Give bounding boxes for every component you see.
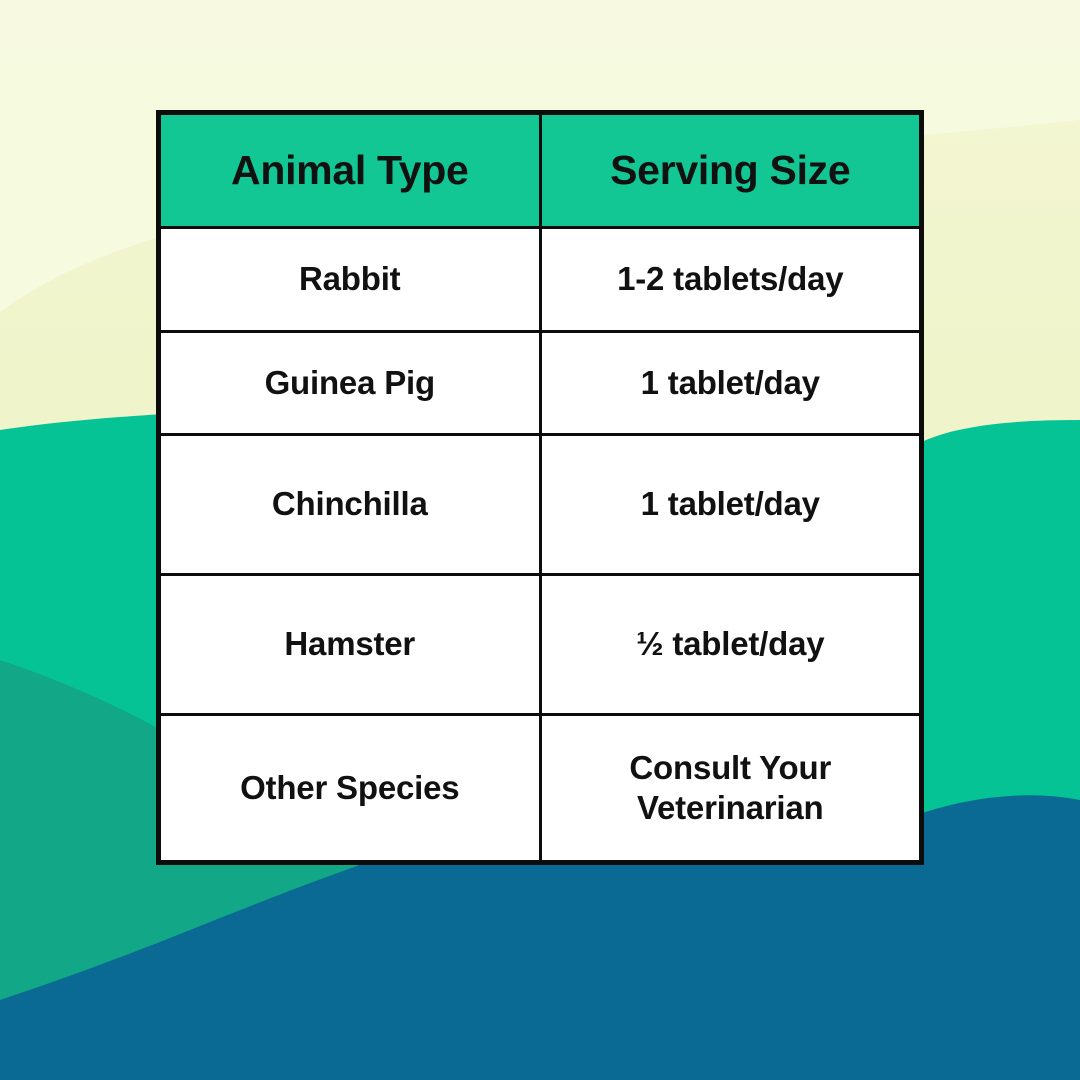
- table-row: Hamster ½ tablet/day: [159, 575, 922, 715]
- table-row: Guinea Pig 1 tablet/day: [159, 332, 922, 435]
- header-label-animal-type: Animal Type: [171, 147, 529, 194]
- cell-animal-type: Guinea Pig: [159, 332, 541, 435]
- poster-canvas: Animal Type Serving Size Rabbit 1-2 tabl…: [0, 0, 1080, 1080]
- table-row: Other Species Consult Your Veterinarian: [159, 715, 922, 863]
- cell-serving-size: 1 tablet/day: [540, 332, 922, 435]
- serving-value: 1 tablet/day: [552, 484, 910, 524]
- cell-animal-type: Rabbit: [159, 228, 541, 332]
- cell-serving-size: 1-2 tablets/day: [540, 228, 922, 332]
- serving-value: 1-2 tablets/day: [552, 259, 910, 299]
- header-label-serving-size: Serving Size: [552, 147, 910, 194]
- column-header-serving-size: Serving Size: [540, 113, 922, 228]
- serving-size-table: Animal Type Serving Size Rabbit 1-2 tabl…: [156, 110, 924, 865]
- animal-name: Chinchilla: [171, 484, 529, 524]
- animal-name: Other Species: [171, 768, 529, 808]
- serving-value: Consult Your Veterinarian: [552, 748, 910, 829]
- animal-name: Guinea Pig: [171, 363, 529, 403]
- cell-serving-size: ½ tablet/day: [540, 575, 922, 715]
- serving-value: ½ tablet/day: [552, 624, 910, 664]
- cell-serving-size: Consult Your Veterinarian: [540, 715, 922, 863]
- cell-animal-type: Chinchilla: [159, 435, 541, 575]
- table-row: Rabbit 1-2 tablets/day: [159, 228, 922, 332]
- table-body: Rabbit 1-2 tablets/day Guinea Pig 1 tabl…: [159, 228, 922, 863]
- table-header-row: Animal Type Serving Size: [159, 113, 922, 228]
- table-container: Animal Type Serving Size Rabbit 1-2 tabl…: [156, 110, 924, 792]
- animal-name: Hamster: [171, 624, 529, 664]
- cell-animal-type: Other Species: [159, 715, 541, 863]
- cell-animal-type: Hamster: [159, 575, 541, 715]
- cell-serving-size: 1 tablet/day: [540, 435, 922, 575]
- table-row: Chinchilla 1 tablet/day: [159, 435, 922, 575]
- serving-value: 1 tablet/day: [552, 363, 910, 403]
- animal-name: Rabbit: [171, 259, 529, 299]
- column-header-animal-type: Animal Type: [159, 113, 541, 228]
- table-header: Animal Type Serving Size: [159, 113, 922, 228]
